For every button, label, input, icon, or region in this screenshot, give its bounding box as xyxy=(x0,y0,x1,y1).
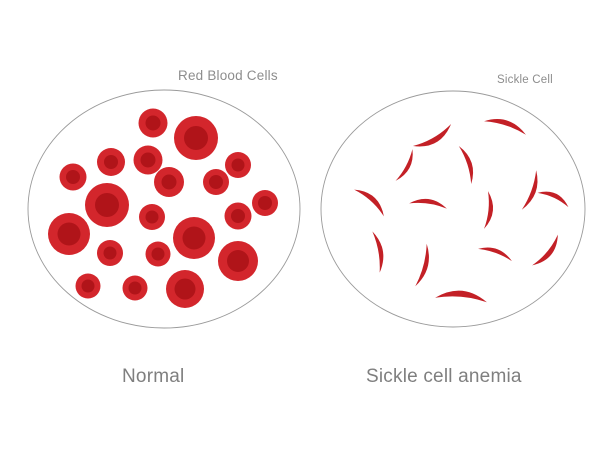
red-blood-cell xyxy=(154,167,184,197)
red-blood-cell xyxy=(139,204,165,230)
red-blood-cell-core xyxy=(209,175,223,189)
red-blood-cell xyxy=(225,203,252,230)
red-blood-cell-core xyxy=(258,196,272,210)
caption-sickle-cell-anemia: Sickle cell anemia xyxy=(366,366,522,388)
red-blood-cell-core xyxy=(232,159,245,172)
red-blood-cell-core xyxy=(129,282,142,295)
sickle-cell-panel xyxy=(321,91,585,327)
red-blood-cell xyxy=(48,213,90,255)
red-blood-cell-core xyxy=(66,170,80,184)
red-blood-cell-core xyxy=(152,248,165,261)
red-blood-cell xyxy=(174,116,218,160)
red-blood-cell xyxy=(146,242,171,267)
red-blood-cell xyxy=(203,169,229,195)
red-blood-cell xyxy=(97,148,125,176)
normal-blood-panel xyxy=(28,90,300,328)
label-sickle-cell: Sickle Cell xyxy=(497,74,553,86)
red-blood-cell xyxy=(97,240,123,266)
red-blood-cell xyxy=(85,183,129,227)
red-blood-cell xyxy=(123,276,148,301)
caption-normal: Normal xyxy=(122,366,184,388)
red-blood-cell xyxy=(76,274,101,299)
red-blood-cell-core xyxy=(146,116,161,131)
red-blood-cell-core xyxy=(58,223,81,246)
red-blood-cell xyxy=(166,270,204,308)
red-blood-cell xyxy=(139,109,168,138)
red-blood-cell-core xyxy=(95,193,119,217)
red-blood-cell-core xyxy=(141,153,156,168)
red-blood-cell xyxy=(60,164,87,191)
red-blood-cell-core xyxy=(183,227,206,250)
red-blood-cell xyxy=(134,146,163,175)
diagram-canvas xyxy=(0,0,612,460)
red-blood-cell-core xyxy=(175,279,196,300)
red-blood-cell xyxy=(173,217,215,259)
red-blood-cell xyxy=(225,152,251,178)
red-blood-cell xyxy=(218,241,258,281)
red-blood-cell-core xyxy=(104,155,118,169)
red-blood-cell-core xyxy=(162,175,177,190)
red-blood-cell-core xyxy=(104,247,117,260)
red-blood-cell-core xyxy=(146,211,159,224)
red-blood-cell xyxy=(252,190,278,216)
red-blood-cell-core xyxy=(227,250,249,272)
red-blood-cell-core xyxy=(184,126,208,150)
red-blood-cell-core xyxy=(231,209,245,223)
red-blood-cell-core xyxy=(82,280,95,293)
label-red-blood-cells: Red Blood Cells xyxy=(178,68,278,83)
blood-cell-comparison-figure: Red Blood Cells Sickle Cell Normal Sickl… xyxy=(0,0,612,460)
